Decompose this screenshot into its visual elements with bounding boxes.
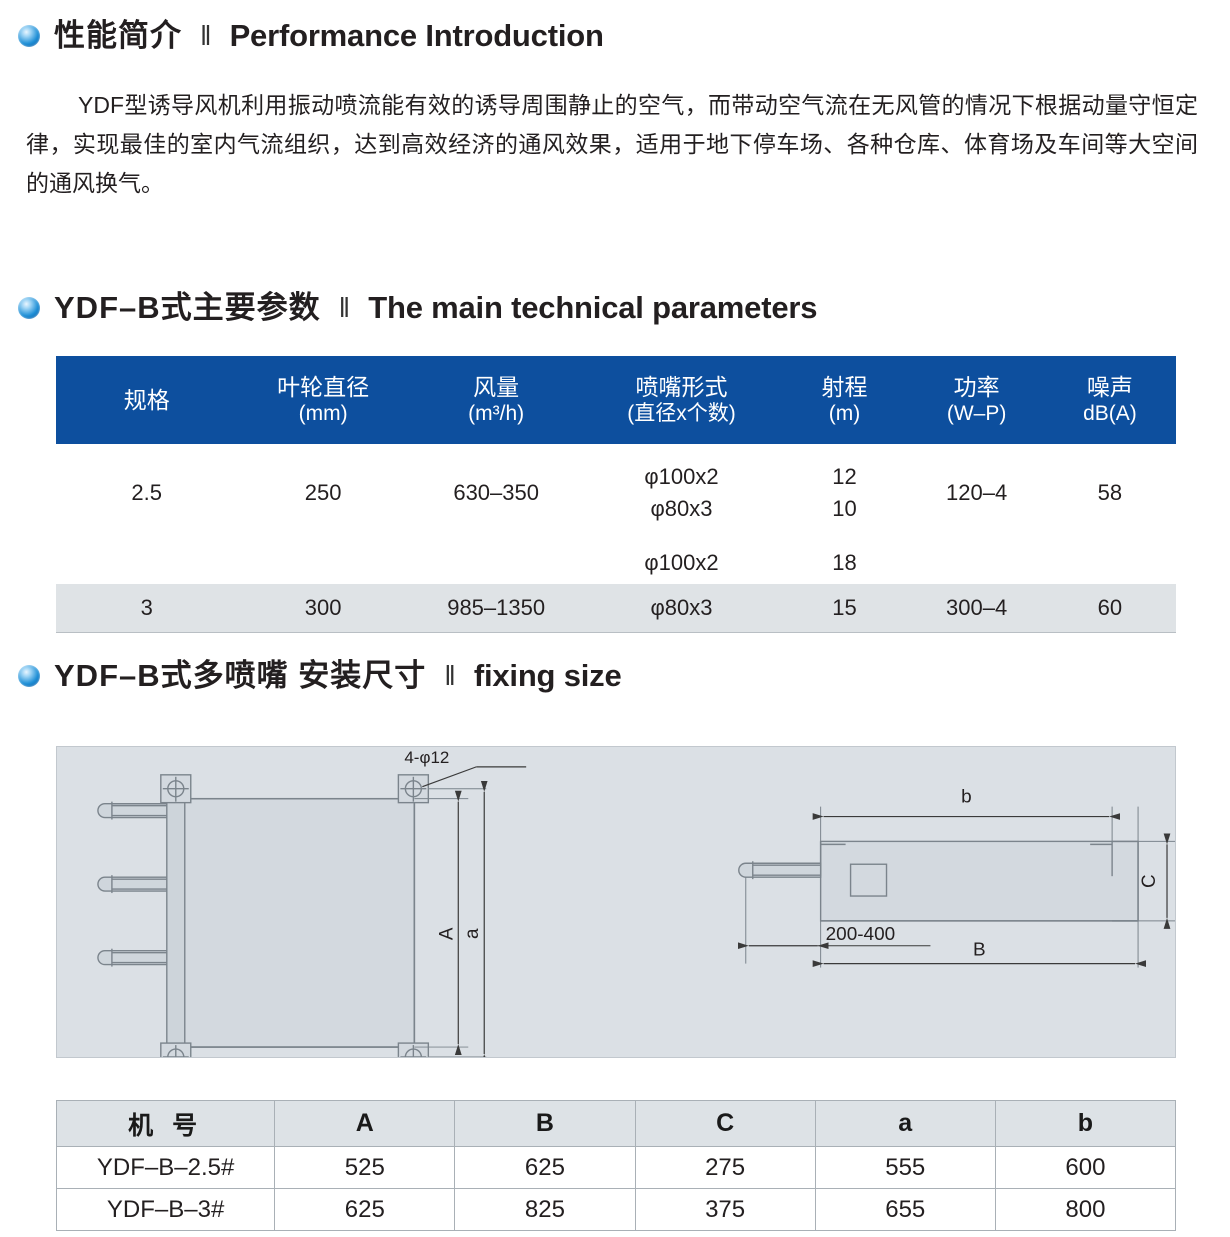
dims-header-a: a <box>815 1101 995 1147</box>
dims-cell-B: 825 <box>455 1189 635 1231</box>
bullet-sphere-icon <box>18 665 40 687</box>
bullet-sphere-icon <box>18 297 40 319</box>
params-cell-empty <box>56 542 237 584</box>
nozzle-group <box>98 802 167 967</box>
params-cell-spec: 3 <box>56 584 237 632</box>
dims-cell-C: 375 <box>635 1189 815 1231</box>
dims-cell-A: 625 <box>275 1189 455 1231</box>
heading-separator: ‖ <box>200 22 212 50</box>
params-cell-noise: 60 <box>1044 584 1176 632</box>
heading-chinese-fixing: YDF–B式多喷嘴 安装尺寸 <box>54 660 426 691</box>
table-row: 2.5 250 630–350 φ100x2 φ80x3 12 10 120–4… <box>56 444 1176 542</box>
params-cell-throw: 12 10 <box>780 444 910 542</box>
params-cell-nozzles-second: φ100x2 <box>584 542 780 584</box>
section-heading-fixing: YDF–B式多喷嘴 安装尺寸 ‖ fixing size <box>0 660 622 691</box>
heading-chinese-parameters: YDF–B式主要参数 <box>54 292 321 323</box>
dims-cell-model: YDF–B–3# <box>57 1189 275 1231</box>
hole-callout-label: 4-φ12 <box>404 748 449 767</box>
params-header-airflow: 风量 (m³/h) <box>409 356 584 444</box>
front-view-group <box>98 775 486 1057</box>
nozzle-line: φ100x2 <box>584 461 780 493</box>
dims-header-row: 机 号 A B C a b <box>57 1101 1176 1147</box>
technical-drawing-svg: 4-φ12 A a <box>57 747 1175 1057</box>
params-cell-empty <box>409 542 584 584</box>
dims-header-B: B <box>455 1101 635 1147</box>
dimension-label-b: b <box>961 787 972 808</box>
heading-english-parameters: The main technical parameters <box>368 292 817 323</box>
params-cell-airflow: 985–1350 <box>409 584 584 632</box>
params-header-nozzle-type: 喷嘴形式 (直径x个数) <box>584 356 780 444</box>
params-cell-throw: 15 <box>780 584 910 632</box>
params-cell-impeller: 250 <box>237 444 408 542</box>
table-row-nozzle-overflow: φ100x2 18 <box>56 542 1176 584</box>
dims-cell-b: 800 <box>995 1189 1175 1231</box>
dims-header-A: A <box>275 1101 455 1147</box>
section-heading-performance: 性能简介 ‖ Performance Introduction <box>0 20 604 51</box>
params-cell-throw-second: 18 <box>780 542 910 584</box>
dimension-label-B: B <box>973 940 986 961</box>
params-header-noise: 噪声 dB(A) <box>1044 356 1176 444</box>
hole-callout-leader <box>422 767 526 787</box>
heading-separator: ‖ <box>339 294 351 322</box>
bullet-sphere-icon <box>18 25 40 47</box>
dims-header-model: 机 号 <box>57 1101 275 1147</box>
throw-line: 12 <box>780 461 910 493</box>
params-cell-empty <box>1044 542 1176 584</box>
params-cell-empty <box>909 542 1043 584</box>
throw-line: 10 <box>780 493 910 525</box>
params-header-spec: 规格 <box>56 356 237 444</box>
table-row: 3 300 985–1350 φ80x3 15 300–4 60 <box>56 584 1176 632</box>
dims-cell-B: 625 <box>455 1147 635 1189</box>
side-view-group <box>739 807 1175 968</box>
fixing-dimensions-table: 机 号 A B C a b YDF–B–2.5# 525 625 275 555… <box>56 1100 1176 1231</box>
dims-cell-a: 555 <box>815 1147 995 1189</box>
params-cell-noise: 58 <box>1044 444 1176 542</box>
nozzle-line: φ80x3 <box>584 493 780 525</box>
dims-header-C: C <box>635 1101 815 1147</box>
dims-cell-C: 275 <box>635 1147 815 1189</box>
dims-cell-A: 525 <box>275 1147 455 1189</box>
dims-cell-b: 600 <box>995 1147 1175 1189</box>
params-header-throw-distance: 射程 (m) <box>780 356 910 444</box>
params-cell-empty <box>237 542 408 584</box>
params-cell-power: 120–4 <box>909 444 1043 542</box>
params-cell-impeller: 300 <box>237 584 408 632</box>
dimension-label-a: a <box>462 928 483 939</box>
performance-intro-paragraph: YDF型诱导风机利用振动喷流能有效的诱导周围静止的空气，而带动空气流在无风管的情… <box>26 86 1198 203</box>
params-cell-spec: 2.5 <box>56 444 237 542</box>
dims-cell-model: YDF–B–2.5# <box>57 1147 275 1189</box>
params-cell-airflow: 630–350 <box>409 444 584 542</box>
section-heading-parameters: YDF–B式主要参数 ‖ The main technical paramete… <box>0 292 817 323</box>
depth-note-label: 200-400 <box>826 924 896 945</box>
params-cell-nozzles: φ80x3 <box>584 584 780 632</box>
params-header-impeller-diameter: 叶轮直径 (mm) <box>237 356 408 444</box>
dims-header-b: b <box>995 1101 1175 1147</box>
params-header-row: 规格 叶轮直径 (mm) 风量 (m³/h) 喷嘴形式 (直径x个数) <box>56 356 1176 444</box>
dims-cell-a: 655 <box>815 1189 995 1231</box>
params-cell-power: 300–4 <box>909 584 1043 632</box>
dimension-label-C: C <box>1139 874 1160 888</box>
heading-english-fixing: fixing size <box>474 660 622 691</box>
table-row: YDF–B–3# 625 825 375 655 800 <box>57 1189 1176 1231</box>
heading-english-performance: Performance Introduction <box>230 20 604 51</box>
table-row: YDF–B–2.5# 525 625 275 555 600 <box>57 1147 1176 1189</box>
main-parameters-table: 规格 叶轮直径 (mm) 风量 (m³/h) 喷嘴形式 (直径x个数) <box>56 356 1176 633</box>
params-header-power: 功率 (W–P) <box>909 356 1043 444</box>
heading-separator: ‖ <box>444 662 456 690</box>
fixing-size-drawing-panel: 4-φ12 A a <box>56 746 1176 1058</box>
heading-chinese-performance: 性能简介 <box>54 20 182 51</box>
params-cell-nozzles: φ100x2 φ80x3 <box>584 444 780 542</box>
dimension-label-A: A <box>436 927 457 940</box>
